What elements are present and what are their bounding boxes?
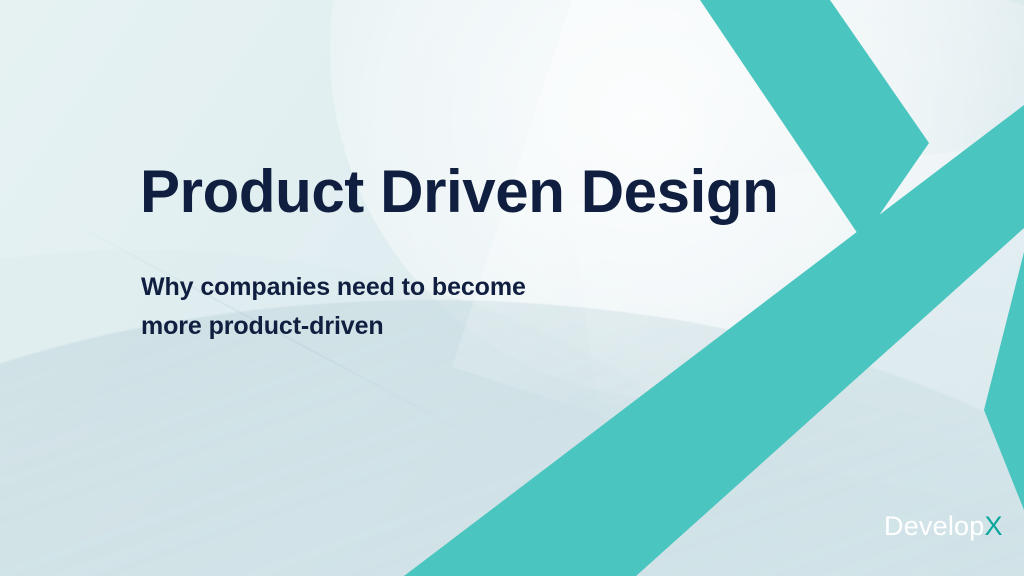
page-subtitle: Why companies need to become more produc… bbox=[141, 268, 526, 346]
page-title: Product Driven Design bbox=[140, 160, 778, 224]
presentation-slide: Product Driven Design Why companies need… bbox=[0, 0, 1024, 576]
page-subtitle-line-1: Why companies need to become bbox=[141, 268, 526, 307]
brand-logo-mark: X bbox=[984, 511, 1002, 541]
brand-logo: DevelopX bbox=[884, 511, 1003, 542]
brand-logo-word: Develop bbox=[884, 511, 984, 541]
page-subtitle-line-2: more product-driven bbox=[141, 307, 526, 346]
chevron-right-edge-shape bbox=[984, 252, 1024, 510]
